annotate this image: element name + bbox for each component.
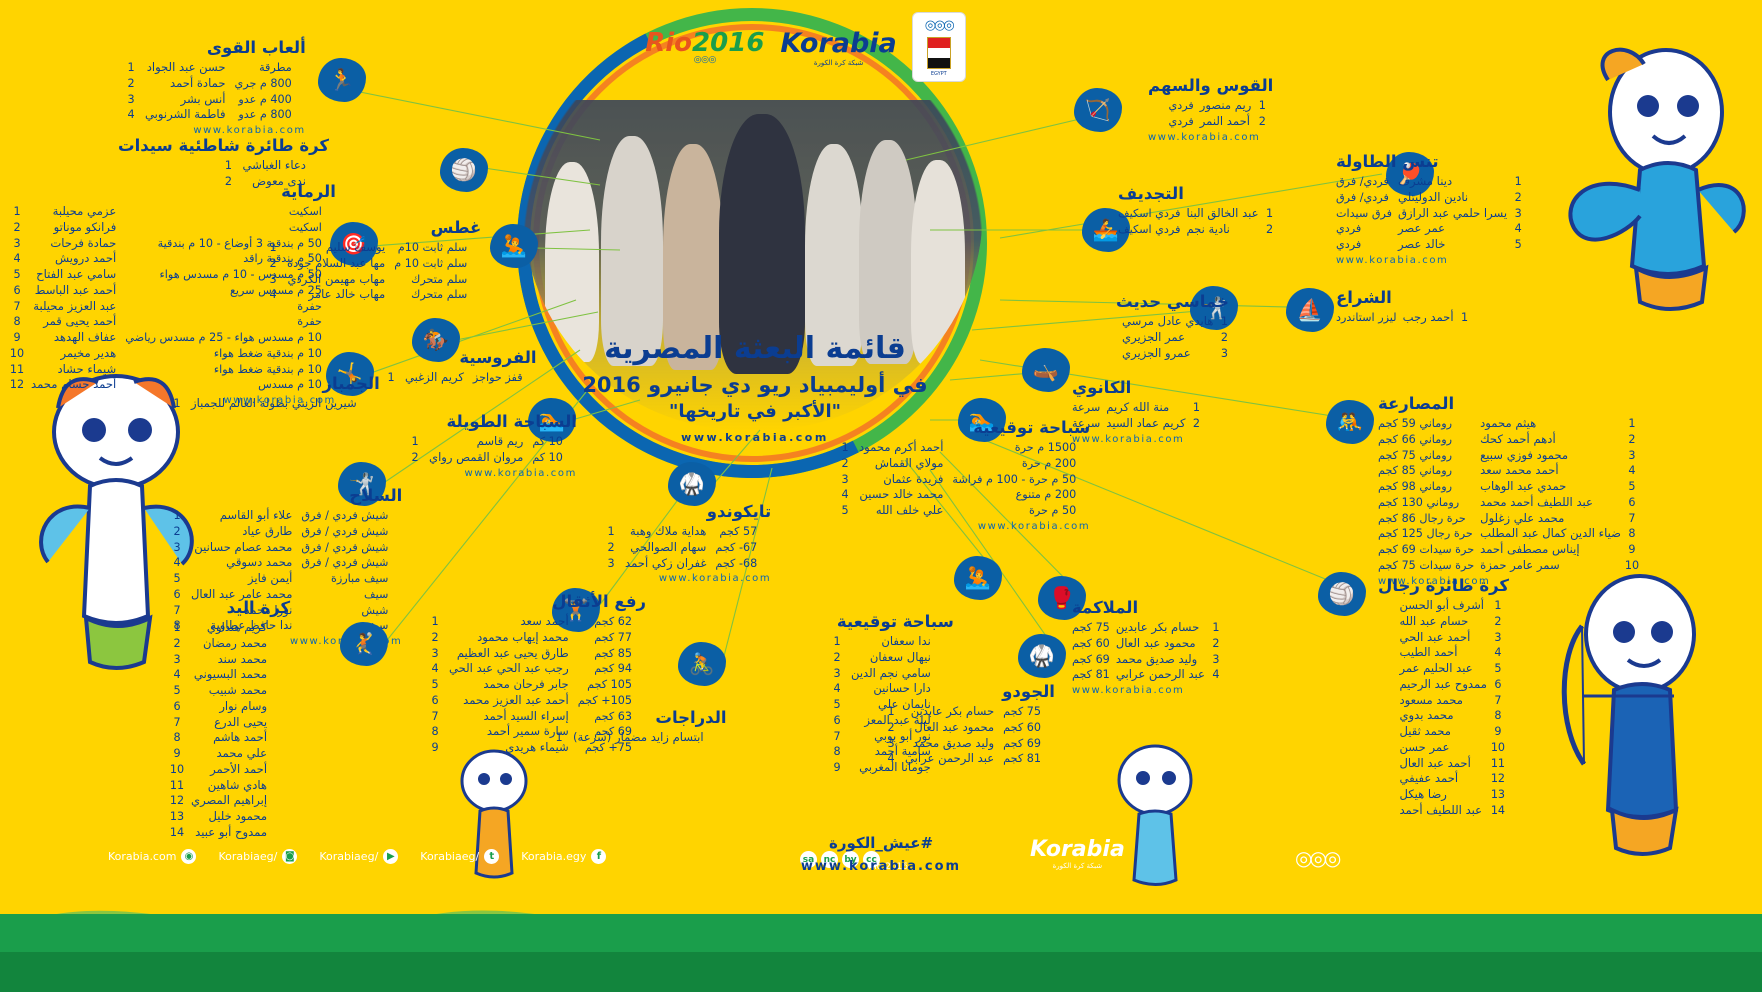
athlete-event: فردي bbox=[1168, 98, 1193, 114]
athlete-name: مولاي القماش bbox=[856, 456, 949, 472]
rio-word: Rio bbox=[645, 28, 692, 58]
athlete-event: فردي/ فرق bbox=[1336, 174, 1392, 190]
athlete-table-canoe: 1منة الله كريمسرعة2كريم عماد السيدسرعة bbox=[1072, 400, 1207, 432]
athlete-name: أحمد عفيفي bbox=[1393, 771, 1487, 787]
athlete-index: 2 bbox=[424, 630, 446, 646]
athlete-event: حرة رجال 125 كجم bbox=[1378, 526, 1474, 542]
table-row: سلم ثابت 10 ممها عبد السلام جودة2 bbox=[262, 256, 481, 272]
athlete-event bbox=[273, 825, 290, 841]
athlete-name: هداية ملاك وهبة bbox=[622, 524, 712, 540]
table-row: 8ضياء الدين كمال عبد المطلبحرة رجال 125 … bbox=[1378, 526, 1643, 542]
social-handle: /Korabiaeg bbox=[319, 850, 378, 863]
athlete-index: 12 bbox=[6, 377, 28, 393]
athlete-event: 50 م حرة bbox=[949, 503, 1090, 519]
social-link-1[interactable]: t/Korabiaeg bbox=[420, 849, 499, 864]
athlete-name: نادية نجم bbox=[1180, 222, 1258, 238]
athlete-index: 1 bbox=[120, 60, 142, 76]
athlete-index: 2 bbox=[1185, 416, 1207, 432]
athlete-index: 9 bbox=[826, 760, 848, 776]
athlete-name: نيهال سعفان bbox=[848, 650, 937, 666]
table-row: أحمد الأحمر10 bbox=[166, 762, 290, 778]
sport-website-boxing[interactable]: www.korabia.com bbox=[1072, 685, 1227, 696]
athlete-name: أحمد النمر bbox=[1194, 114, 1252, 130]
athlete-name: علاء أبو القاسم bbox=[188, 508, 298, 524]
athlete-event: حفرة bbox=[122, 314, 336, 330]
footer-website[interactable]: www.korabia.com bbox=[801, 859, 961, 874]
athlete-index: 6 bbox=[424, 693, 446, 709]
athlete-index: 1 bbox=[826, 634, 848, 650]
athlete-index: 6 bbox=[1487, 677, 1509, 693]
table-row: 3محمود فوزي سبيعروماني 75 كجم bbox=[1378, 448, 1643, 464]
table-row: 200 م متنوعمحمد خالد حسين4 bbox=[834, 487, 1090, 503]
table-row: 69 كجموليد صديق محمد3 bbox=[880, 736, 1055, 752]
athlete-name: طارق عياد bbox=[188, 524, 298, 540]
athlete-index: 4 bbox=[6, 251, 28, 267]
athlete-name: ضياء الدين كمال عبد المطلب bbox=[1474, 526, 1621, 542]
archery-icon: 🏹 bbox=[1074, 88, 1122, 132]
athlete-index: 6 bbox=[1621, 495, 1643, 511]
sport-title-equestrian: الفروسية bbox=[380, 348, 537, 367]
athlete-event: 69 كجم bbox=[1000, 736, 1055, 752]
athlete-index: 1 bbox=[1507, 174, 1529, 190]
sport-title-weightlifting: رفع الأثقال bbox=[424, 592, 646, 611]
athlete-event: 800 م عدو bbox=[232, 107, 306, 123]
athlete-name: محمد علي زغلول bbox=[1474, 511, 1621, 527]
athlete-name: وسام نوار bbox=[188, 699, 273, 715]
athlete-name: عبد العزيز محيلبة bbox=[28, 299, 122, 315]
athlete-table-rowing: 1عبد الخالق البنافردي اسكيف2نادية نجمفرد… bbox=[1118, 206, 1281, 238]
athlete-name: أحمد درويش bbox=[28, 251, 122, 267]
athlete-event: 75 كجم bbox=[1072, 620, 1110, 636]
table-row: 1عبد الخالق البنافردي اسكيف bbox=[1118, 206, 1281, 222]
athlete-event: فرق سيدات bbox=[1336, 206, 1392, 222]
sport-title-diving: غطس bbox=[262, 218, 481, 237]
athlete-event bbox=[273, 636, 290, 652]
athlete-index: 2 bbox=[6, 220, 28, 236]
social-link-3[interactable]: ◙/Korabiaeg bbox=[218, 849, 297, 864]
table-row: 5حمدي عبد الوهابروماني 98 كجم bbox=[1378, 479, 1643, 495]
athlete-index: 7 bbox=[424, 709, 446, 725]
athlete-index: 9 bbox=[424, 740, 446, 756]
table-row: 50 م حرةعلي خلف الله5 bbox=[834, 503, 1090, 519]
athlete-index: 2 bbox=[826, 650, 848, 666]
athlete-name: هايدي عادل مرسي bbox=[1116, 314, 1213, 330]
athlete-name: كريم عماد السيد bbox=[1100, 416, 1185, 432]
sport-block-rowing: التجديف1عبد الخالق البنافردي اسكيف2نادية… bbox=[1118, 184, 1281, 238]
athlete-index: 3 bbox=[1213, 346, 1235, 362]
athlete-event: سيف مبارزة bbox=[298, 571, 402, 587]
table-row: 94 كجمرجب عبد الحي عبد الحي4 bbox=[424, 661, 646, 677]
athlete-index: 2 bbox=[834, 456, 856, 472]
athlete-index: 2 bbox=[1205, 636, 1227, 652]
athlete-event: 75 كجم bbox=[1000, 704, 1055, 720]
athlete-index: 1 bbox=[1259, 206, 1281, 222]
athlete-name: محمد إيهاب محمود bbox=[446, 630, 575, 646]
athlete-name: ندا سعفان bbox=[848, 634, 937, 650]
athlete-name: سمر عامر حمزة bbox=[1474, 558, 1621, 574]
athlete-event: سلم متحرك bbox=[391, 272, 481, 288]
sport-block-boxing: الملاكمة1حسام بكر عابدين75 كجم2محمود عبد… bbox=[1072, 598, 1227, 696]
athlete-name: علي محمد bbox=[188, 746, 273, 762]
table-row: 1هايدي عادل مرسي bbox=[1116, 314, 1235, 330]
sport-block-handball: كرة اليدكريم هنداوي1محمد رمضان2محمد سند3… bbox=[166, 598, 290, 841]
athlete-index: 4 bbox=[424, 661, 446, 677]
sport-website-synchronised-swimming-mid[interactable]: www.korabia.com bbox=[834, 521, 1090, 532]
egypt-noc-logo: ◎◎◎ EGYPT bbox=[913, 13, 965, 81]
athlete-index: 1 bbox=[600, 524, 622, 540]
table-row: شيش فردي / فرقمحمد دسوقي4 bbox=[166, 555, 402, 571]
sport-website-table-tennis[interactable]: www.korabia.com bbox=[1336, 255, 1529, 266]
sport-title-archery: القوس والسهم bbox=[1148, 76, 1273, 95]
olympic-rings-icon: ◎◎◎ bbox=[925, 18, 953, 33]
instagram-icon: ◙ bbox=[282, 849, 297, 864]
athlete-name: عمر حسن bbox=[1393, 740, 1487, 756]
athlete-event: 105+ كجم bbox=[575, 693, 646, 709]
table-row: 10 كممروان القمص رواي2 bbox=[404, 450, 577, 466]
athlete-index: 10 bbox=[6, 346, 28, 362]
athlete-index: 3 bbox=[880, 736, 902, 752]
athlete-name: محمد بدوي bbox=[1393, 708, 1487, 724]
athlete-index: 5 bbox=[826, 697, 848, 713]
athlete-event: 50 م حرة - 100 م فراشة bbox=[949, 472, 1090, 488]
table-row: 60 كجممحمود عبد العال2 bbox=[880, 720, 1055, 736]
athlete-name: فريدة عثمان bbox=[856, 472, 949, 488]
athlete-name: حسام بكر عابدين bbox=[1110, 620, 1205, 636]
social-handle: Korabia.com bbox=[108, 850, 176, 863]
athlete-index: 1 bbox=[880, 704, 902, 720]
athlete-index: 5 bbox=[1621, 479, 1643, 495]
athlete-index: 1 bbox=[262, 240, 284, 256]
table-row: نيهال سعفان2 bbox=[826, 650, 954, 666]
athlete-index: 8 bbox=[1621, 526, 1643, 542]
beach-volleyball-icon: 🏐 bbox=[440, 148, 488, 192]
athlete-index: 2 bbox=[1621, 432, 1643, 448]
infographic-canvas: قائمة البعثة المصرية في أوليمبياد ريو دي… bbox=[0, 0, 1762, 992]
athlete-index: 9 bbox=[166, 746, 188, 762]
athlete-name: أحمد عبد العزيز محمد bbox=[446, 693, 575, 709]
sport-block-open-water-swimming: السباحة الطويلة10 كمريم قاسم110 كممروان … bbox=[404, 412, 577, 479]
mascot-vinicius-top-right bbox=[1548, 20, 1748, 320]
diving-icon: 🤽 bbox=[490, 224, 538, 268]
table-row: 8محمد بدوي bbox=[1393, 708, 1509, 724]
athlete-table-taekwondo: 57 كجمهداية ملاك وهبة167- كجمسهام الصوال… bbox=[600, 524, 771, 571]
athlete-index: 4 bbox=[1621, 463, 1643, 479]
athlete-index: 9 bbox=[1621, 542, 1643, 558]
sport-title-cycling: الدراجات bbox=[548, 708, 727, 727]
sport-block-taekwondo: تايكوندو57 كجمهداية ملاك وهبة167- كجمسها… bbox=[600, 502, 771, 584]
sport-title-shooting: الرماية bbox=[6, 182, 336, 201]
athlete-event bbox=[273, 746, 290, 762]
athlete-event bbox=[273, 730, 290, 746]
athlete-index: 2 bbox=[880, 720, 902, 736]
athlete-index: 4 bbox=[166, 667, 188, 683]
social-handle: /Korabiaeg bbox=[420, 850, 479, 863]
table-row: دعاء الغباشي1 bbox=[217, 158, 329, 174]
athlete-index: 8 bbox=[826, 744, 848, 760]
table-row: 4أحمد محمد سعدروماني 85 كجم bbox=[1378, 463, 1643, 479]
mascot-bottom-mid-right bbox=[1085, 740, 1225, 900]
athlete-index: 2 bbox=[166, 636, 188, 652]
athlete-index: 4 bbox=[880, 751, 902, 767]
youtube-icon: ▶ bbox=[383, 849, 398, 864]
table-row: 105 كجمجابر فرحان محمد5 bbox=[424, 677, 646, 693]
handball-icon: 🤾 bbox=[340, 622, 388, 666]
table-row: هادي شاهين11 bbox=[166, 778, 290, 794]
athlete-name: ريم قاسم bbox=[426, 434, 529, 450]
athlete-index: 1 bbox=[166, 620, 188, 636]
sport-website-taekwondo[interactable]: www.korabia.com bbox=[600, 573, 771, 584]
social-links[interactable]: fKorabia.egyt/Korabiaeg▶/Korabiaeg◙/Kora… bbox=[108, 849, 606, 864]
athlete-event: روماني 85 كجم bbox=[1378, 463, 1474, 479]
sport-website-open-water-swimming[interactable]: www.korabia.com bbox=[404, 468, 577, 479]
athlete-name: إبراهيم المصري bbox=[188, 793, 273, 809]
athlete-index: 8 bbox=[424, 724, 446, 740]
judo-icon: 🥋 bbox=[1018, 634, 1066, 678]
main-title: قائمة البعثة المصرية bbox=[560, 330, 950, 368]
athlete-name: شيماء حشاد bbox=[28, 362, 122, 378]
sport-block-wrestling: المصارعة1هيثم محمودروماني 59 كجم2أدهم أح… bbox=[1378, 394, 1643, 587]
athlete-table-diving: سلم ثابت 10ميوسف سليم1سلم ثابت 10 ممها ع… bbox=[262, 240, 481, 303]
athlete-table-boxing: 1حسام بكر عابدين75 كجم2محمود عبد العال60… bbox=[1072, 620, 1227, 683]
athlete-index: 2 bbox=[1213, 330, 1235, 346]
athlete-index: 3 bbox=[834, 472, 856, 488]
table-row: 11أحمد عبد العال bbox=[1393, 756, 1509, 772]
rio-2016-logo: Rio2016 ◎◎◎ bbox=[645, 30, 764, 65]
athlete-index: 4 bbox=[1205, 667, 1227, 683]
athlete-event: شيش فردي / فرق bbox=[298, 540, 402, 556]
sport-title-judo: الجودو bbox=[880, 682, 1055, 701]
taekwondo-icon: 🥋 bbox=[668, 462, 716, 506]
athlete-event: 105 كجم bbox=[575, 677, 646, 693]
athlete-name: حمادة فرحات bbox=[28, 236, 122, 252]
table-row: ممدوح أبو عبيد14 bbox=[166, 825, 290, 841]
athlete-index: 2 bbox=[1259, 222, 1281, 238]
table-row: محمد سند3 bbox=[166, 652, 290, 668]
athlete-name: مها عبد السلام جودة bbox=[284, 256, 391, 272]
table-row: يحيى الدرع7 bbox=[166, 715, 290, 731]
table-row: 4عمر عصرفردي bbox=[1336, 221, 1529, 237]
athlete-name: رضا هيكل bbox=[1393, 787, 1487, 803]
athlete-name: عبد الرحمن عرابي bbox=[1110, 667, 1205, 683]
athlete-event: 69 كجم bbox=[1072, 652, 1110, 668]
athlete-index: 8 bbox=[166, 730, 188, 746]
athlete-table-volleyball-men: 1أشرف أبو الحسن2حسام عبد الله3أحمد عبد ا… bbox=[1393, 598, 1509, 819]
athlete-event bbox=[273, 793, 290, 809]
globe-icon: ◉ bbox=[181, 849, 196, 864]
athlete-index: 3 bbox=[826, 666, 848, 682]
athlete-index: 1 bbox=[380, 370, 402, 386]
sport-title-handball: كرة اليد bbox=[166, 598, 290, 617]
athlete-name: مهاب خالد عامر bbox=[284, 287, 391, 303]
table-row: 2أحمد النمرفردي bbox=[1168, 114, 1273, 130]
athlete-name: ابتسام زايد مضمار (سرعة) bbox=[570, 730, 710, 746]
athlete-event bbox=[312, 158, 329, 174]
athlete-name: علي خلف الله bbox=[856, 503, 949, 519]
athlete-table-gymnastics: شيرين الزيني بطولة العالم للجمباز1 bbox=[166, 396, 380, 412]
twitter-icon: t bbox=[484, 849, 499, 864]
wrestling-icon: 🤼 bbox=[1326, 400, 1374, 444]
athlete-name: محمد سند bbox=[188, 652, 273, 668]
athlete-index: 11 bbox=[166, 778, 188, 794]
table-row: شيش فردي / فرقعلاء أبو القاسم1 bbox=[166, 508, 402, 524]
athlete-name: عفاف الهدهد bbox=[28, 330, 122, 346]
sport-block-cycling: الدراجاتابتسام زايد مضمار (سرعة)1 bbox=[548, 708, 727, 746]
table-row: 57 كجمهداية ملاك وهبة1 bbox=[600, 524, 771, 540]
table-row: كريم هنداوي1 bbox=[166, 620, 290, 636]
table-row: 10 م بندقية ضغط هواءهدير مخيمر10 bbox=[6, 346, 336, 362]
athlete-event bbox=[363, 396, 380, 412]
sport-block-diving: غطسسلم ثابت 10ميوسف سليم1سلم ثابت 10 ممه… bbox=[262, 218, 481, 303]
table-row: 2أدهم أحمد كحكروماني 66 كجم bbox=[1378, 432, 1643, 448]
athlete-index: 4 bbox=[1507, 221, 1529, 237]
table-row: 10 م مسدس هواء - 25 م مسدس رياضيعفاف اله… bbox=[6, 330, 336, 346]
athlete-event: سرعة bbox=[1072, 400, 1100, 416]
table-row: 6عبد اللطيف أحمد محمدروماني 130 كجم bbox=[1378, 495, 1643, 511]
athlete-event: 10 م مسدس هواء - 25 م مسدس رياضي bbox=[122, 330, 336, 346]
sport-block-sailing: الشراع1أحمد رجبليزر استاندرد bbox=[1336, 288, 1476, 326]
sport-website-archery[interactable]: www.korabia.com bbox=[1148, 132, 1273, 143]
athlete-event bbox=[273, 762, 290, 778]
athlete-index: 3 bbox=[262, 272, 284, 288]
table-row: سلم ثابت 10ميوسف سليم1 bbox=[262, 240, 481, 256]
athlete-index: 10 bbox=[166, 762, 188, 778]
athlete-name: ممدوح عبد الرحيم bbox=[1393, 677, 1487, 693]
athlete-event: مطرقة bbox=[232, 60, 306, 76]
athlete-name: عمرو الجزيري bbox=[1116, 346, 1213, 362]
sport-block-archery: القوس والسهم1ريم منصورفردي2أحمد النمرفرد… bbox=[1148, 76, 1273, 143]
athlete-event: سرعة bbox=[1072, 416, 1100, 432]
sport-block-athletics: ألعاب القوىمطرقةحسن عبد الجواد1800 م جري… bbox=[120, 38, 306, 136]
athlete-name: محمود عبد العال bbox=[1110, 636, 1205, 652]
athlete-event: 77 كجم bbox=[575, 630, 646, 646]
athlete-index: 8 bbox=[1487, 708, 1509, 724]
athlete-name: أحمد يحيى قمر bbox=[28, 314, 122, 330]
athlete-event: 94 كجم bbox=[575, 661, 646, 677]
athlete-event bbox=[273, 809, 290, 825]
athlete-event: فردي اسكيف bbox=[1118, 222, 1180, 238]
athlete-event: 800 م جري bbox=[232, 76, 306, 92]
athlete-name: يوسف سليم bbox=[284, 240, 391, 256]
mascot-archer-bottom-right bbox=[1532, 560, 1732, 860]
athlete-event: حرة رجال 86 كجم bbox=[1378, 511, 1474, 527]
athlete-name: أحمد هاشم bbox=[188, 730, 273, 746]
center-website[interactable]: www.korabia.com bbox=[560, 431, 950, 445]
athlete-name: حمادة أحمد bbox=[142, 76, 232, 92]
athlete-index: 1 bbox=[1621, 416, 1643, 432]
athlete-name: طارق يحيى عبد العظيم bbox=[446, 646, 575, 662]
athlete-index: 1 bbox=[1213, 314, 1235, 330]
table-row: أحمد هاشم8 bbox=[166, 730, 290, 746]
table-row: 105+ كجمأحمد عبد العزيز محمد6 bbox=[424, 693, 646, 709]
athlete-event bbox=[937, 666, 954, 682]
athlete-name: كريم هنداوي bbox=[188, 620, 273, 636]
sport-title-fencing: السلاح bbox=[166, 486, 402, 505]
athlete-name: عبد اللطيف أحمد محمد bbox=[1474, 495, 1621, 511]
athlete-index: 4 bbox=[1487, 645, 1509, 661]
athletics-icon: 🏃 bbox=[318, 58, 366, 102]
athlete-index: 1 bbox=[217, 158, 239, 174]
table-row: 400 م عدوأنس بشر3 bbox=[120, 92, 306, 108]
athlete-name: أنس بشر bbox=[142, 92, 232, 108]
athlete-name: محمد دسوقي bbox=[188, 555, 298, 571]
athlete-index: 14 bbox=[1487, 803, 1509, 819]
table-row: حفرةأحمد يحيى قمر8 bbox=[6, 314, 336, 330]
athlete-index: 5 bbox=[166, 571, 188, 587]
sport-website-canoe[interactable]: www.korabia.com bbox=[1072, 434, 1207, 445]
athlete-index: 13 bbox=[1487, 787, 1509, 803]
athlete-index: 2 bbox=[600, 540, 622, 556]
athlete-event: سيف bbox=[298, 587, 402, 603]
korabia-logo: Korabia شبكة كرة الكورة bbox=[780, 28, 896, 67]
social-link-4[interactable]: ◉Korabia.com bbox=[108, 849, 196, 864]
athlete-event: 60 كجم bbox=[1072, 636, 1110, 652]
athlete-event: ليزر استاندرد bbox=[1336, 310, 1397, 326]
athlete-name: إيناس مصطفى أحمد bbox=[1474, 542, 1621, 558]
sport-block-gymnastics: الجمبازشيرين الزيني بطولة العالم للجمباز… bbox=[166, 374, 380, 412]
table-row: 6ممدوح عبد الرحيم bbox=[1393, 677, 1509, 693]
athlete-index: 4 bbox=[826, 681, 848, 697]
table-row: 81 كجمعبد الرحمن عرابي4 bbox=[880, 751, 1055, 767]
table-row: 9إيناس مصطفى أحمدحرة سيدات 69 كجم bbox=[1378, 542, 1643, 558]
table-row: 9محمد ثقيل bbox=[1393, 724, 1509, 740]
sport-title-synchronised-swimming: سباحة توقيعية bbox=[826, 612, 954, 631]
sport-title-boxing: الملاكمة bbox=[1072, 598, 1227, 617]
table-row: سامي نجم الدين3 bbox=[826, 666, 954, 682]
sport-block-table-tennis: تنس الطاولة1دينا مشرففردي/ فرق2نادين الد… bbox=[1336, 152, 1529, 266]
athlete-table-equestrian: قفز حواجزكريم الزغبي1 bbox=[380, 370, 537, 386]
sport-block-canoe: الكانوي1منة الله كريمسرعة2كريم عماد السي… bbox=[1072, 378, 1207, 445]
sport-title-modern-pentathlon: خماسي حديث bbox=[1116, 292, 1235, 311]
social-link-0[interactable]: fKorabia.egy bbox=[521, 849, 606, 864]
sailing-icon: ⛵ bbox=[1286, 288, 1334, 332]
athlete-index: 11 bbox=[6, 362, 28, 378]
athlete-event: شيش bbox=[298, 603, 402, 619]
athlete-name: كريم الزغبي bbox=[402, 370, 470, 386]
athlete-name: دينا مشرف bbox=[1392, 174, 1507, 190]
athlete-name: محمد خالد حسين bbox=[856, 487, 949, 503]
athlete-index: 1 bbox=[166, 508, 188, 524]
footer-korabia-wordmark: Korabia bbox=[1030, 837, 1125, 862]
athlete-name: عمر عصر bbox=[1392, 221, 1507, 237]
sport-title-beach-volleyball: كرة طائرة شاطئية سيدات bbox=[118, 136, 329, 155]
social-link-2[interactable]: ▶/Korabiaeg bbox=[319, 849, 398, 864]
athlete-event: روماني 66 كجم bbox=[1378, 432, 1474, 448]
rio-year: 2016 bbox=[692, 28, 764, 58]
table-row: 2عمر الجزيري bbox=[1116, 330, 1235, 346]
athlete-index: 11 bbox=[1487, 756, 1509, 772]
athlete-name: أحمد حسام محمد bbox=[28, 377, 122, 393]
athlete-name: حسام عبد الله bbox=[1393, 614, 1487, 630]
sport-title-canoe: الكانوي bbox=[1072, 378, 1207, 397]
sport-website-athletics[interactable]: www.korabia.com bbox=[120, 125, 306, 136]
table-row: شيش فردي / فرقمحمد عصام حسانين3 bbox=[166, 540, 402, 556]
table-row: ندا سعفان1 bbox=[826, 634, 954, 650]
athlete-name: أحمد عبد العال bbox=[1393, 756, 1487, 772]
athlete-index: 3 bbox=[6, 236, 28, 252]
athlete-event: سلم ثابت 10م bbox=[391, 240, 481, 256]
athlete-event: 60 كجم bbox=[1000, 720, 1055, 736]
athlete-event: روماني 130 كجم bbox=[1378, 495, 1474, 511]
subtitle: في أوليمبياد ريو دي جانيرو 2016 bbox=[560, 372, 950, 398]
athlete-index: 12 bbox=[1487, 771, 1509, 787]
athlete-index: 3 bbox=[1507, 206, 1529, 222]
athlete-event: 10 كم bbox=[529, 450, 577, 466]
athlete-name: هيثم محمود bbox=[1474, 416, 1621, 432]
athlete-index: 2 bbox=[1251, 114, 1273, 130]
athlete-name: عزمي محيلبة bbox=[28, 204, 122, 220]
table-row: 3يسرا حلمي عبد الرازقفرق سيدات bbox=[1336, 206, 1529, 222]
athlete-name: أحمد الأحمر bbox=[188, 762, 273, 778]
